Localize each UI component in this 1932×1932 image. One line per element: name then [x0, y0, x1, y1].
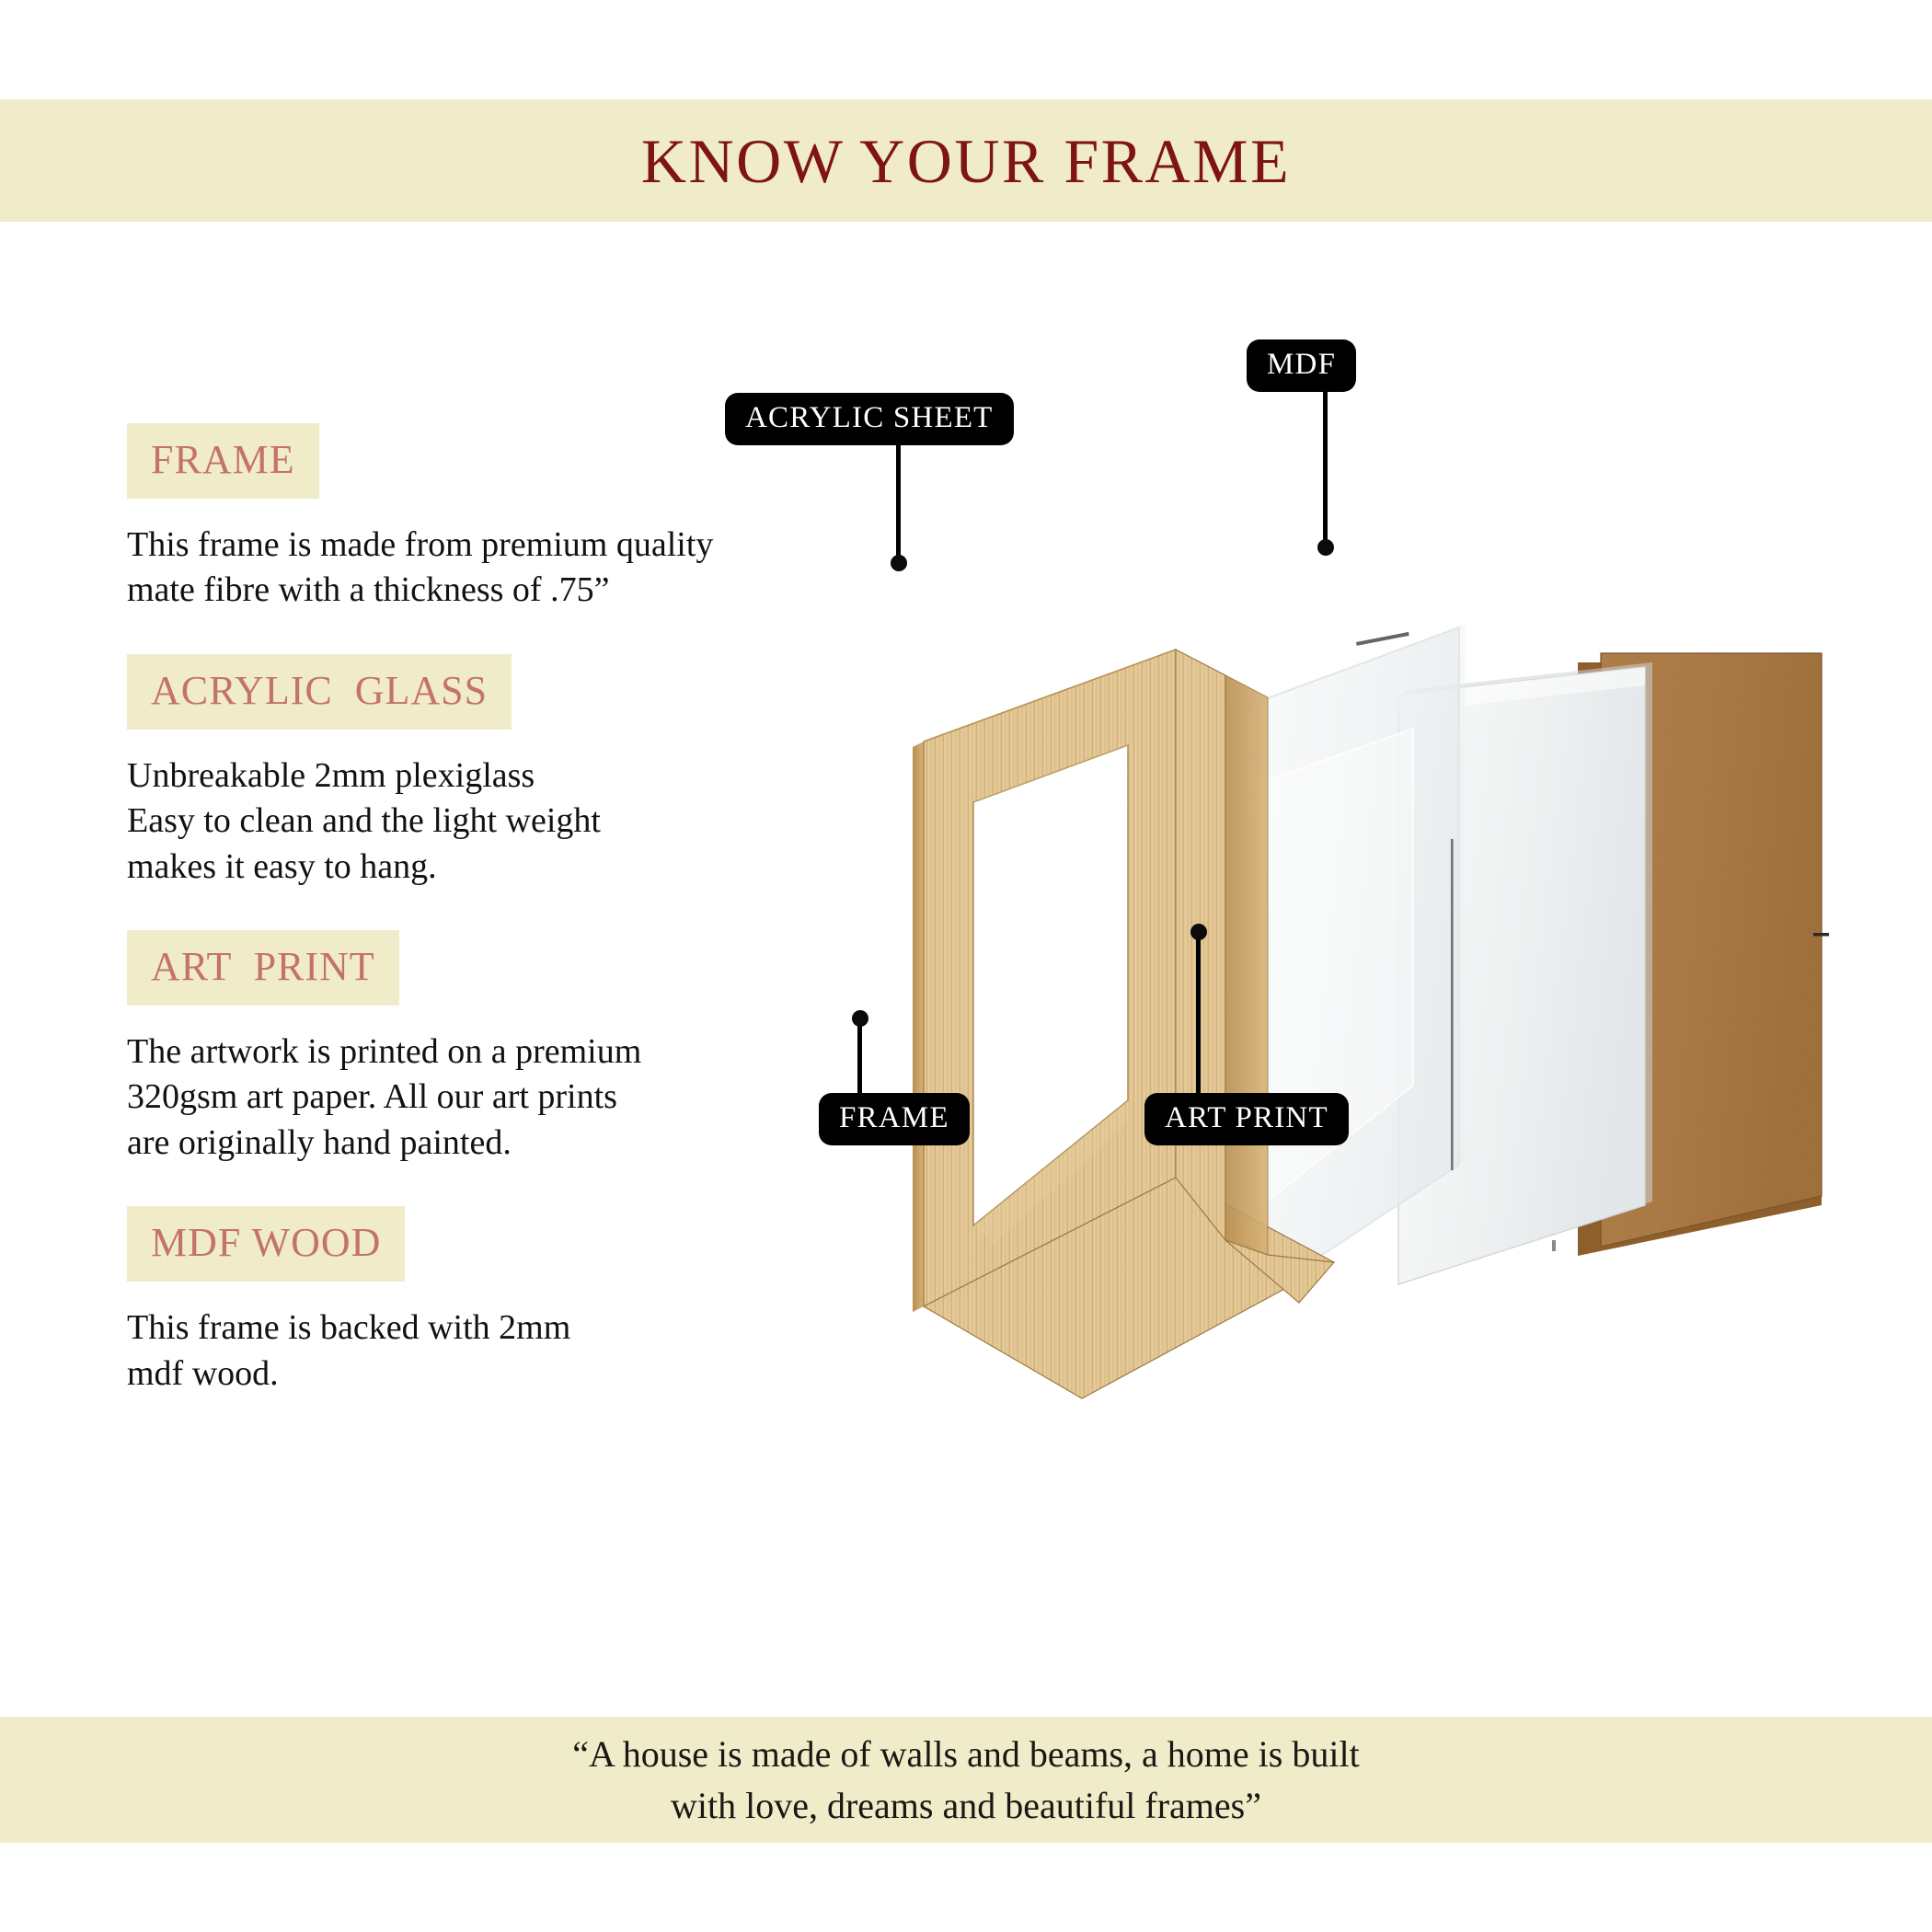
- quote-banner: “A house is made of walls and beams, a h…: [0, 1717, 1932, 1843]
- page-title: KNOW YOUR FRAME: [641, 130, 1291, 192]
- callout-frame[interactable]: FRAME: [819, 1093, 970, 1145]
- leader-line-frame: [857, 1016, 862, 1098]
- exploded-frame-diagram: ACRYLIC SHEET MDF FRAME ART PRINT: [902, 478, 1904, 1582]
- quote-line-1: “A house is made of walls and beams, a h…: [572, 1729, 1359, 1779]
- leader-line-acrylic-sheet: [896, 444, 901, 561]
- callout-mdf[interactable]: MDF: [1247, 339, 1356, 392]
- section-body-art-print: The artwork is printed on a premium 320g…: [127, 1029, 891, 1166]
- leader-line-mdf: [1323, 391, 1328, 546]
- section-heading-frame: FRAME: [127, 423, 319, 499]
- info-section-frame: FRAME This frame is made from premium qu…: [127, 423, 891, 614]
- callout-art-print[interactable]: ART PRINT: [1144, 1093, 1349, 1145]
- quote-line-2: with love, dreams and beautiful frames”: [671, 1780, 1261, 1831]
- info-column: FRAME This frame is made from premium qu…: [127, 423, 891, 1437]
- info-section-art-print: ART PRINT The artwork is printed on a pr…: [127, 930, 891, 1166]
- section-body-frame: This frame is made from premium quality …: [127, 523, 891, 614]
- title-banner: KNOW YOUR FRAME: [0, 99, 1932, 222]
- leader-dot-acrylic-sheet: [891, 555, 907, 571]
- section-body-acrylic-glass: Unbreakable 2mm plexiglass Easy to clean…: [127, 753, 891, 890]
- frame-layers-svg: [902, 478, 1904, 1582]
- callout-acrylic-sheet[interactable]: ACRYLIC SHEET: [725, 393, 1014, 445]
- info-section-acrylic-glass: ACRYLIC GLASS Unbreakable 2mm plexiglass…: [127, 654, 891, 890]
- section-heading-art-print: ART PRINT: [127, 930, 399, 1006]
- section-heading-mdf-wood: MDF WOOD: [127, 1206, 405, 1282]
- leader-dot-frame: [852, 1010, 868, 1027]
- section-body-mdf-wood: This frame is backed with 2mm mdf wood.: [127, 1305, 891, 1397]
- leader-line-art-print: [1196, 929, 1201, 1098]
- section-heading-acrylic-glass: ACRYLIC GLASS: [127, 654, 512, 730]
- leader-dot-mdf: [1317, 539, 1334, 556]
- leader-dot-art-print: [1190, 924, 1207, 940]
- info-section-mdf-wood: MDF WOOD This frame is backed with 2mm m…: [127, 1206, 891, 1397]
